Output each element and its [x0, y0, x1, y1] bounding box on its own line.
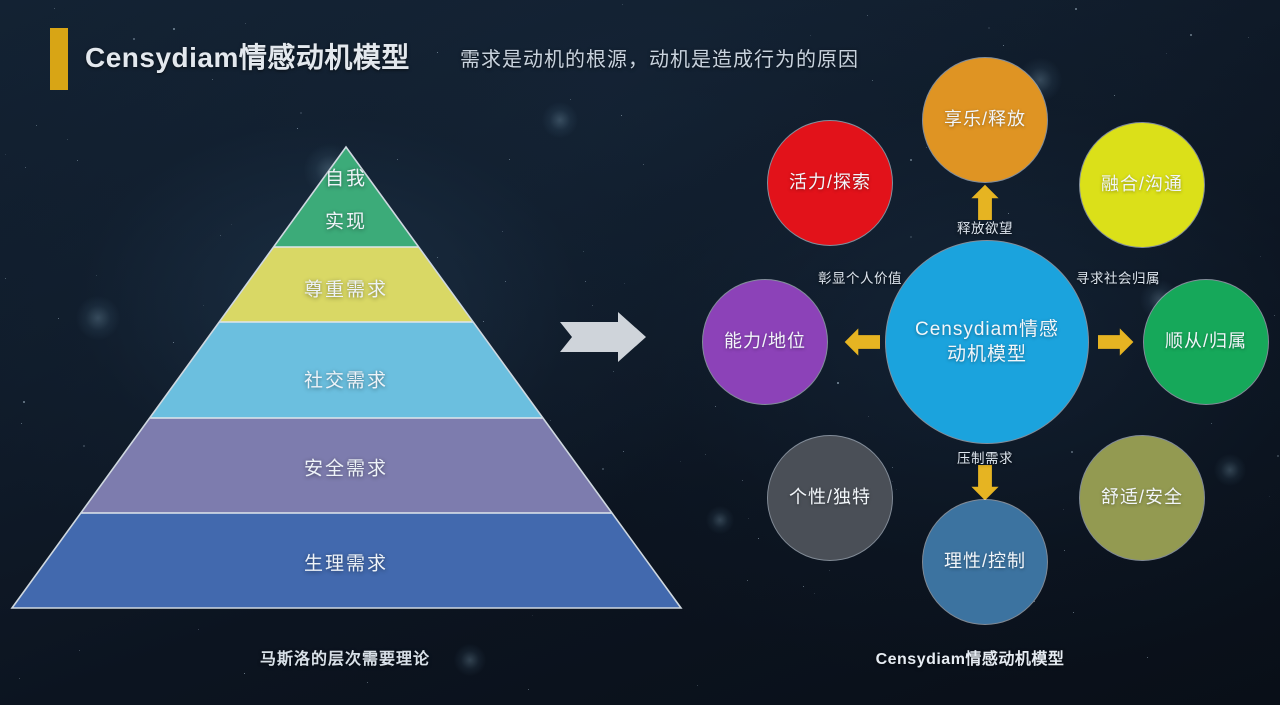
arrow-show-personal-value-icon — [845, 328, 880, 355]
arrow-seek-social-belonging-icon — [1098, 328, 1133, 355]
bubble-competence[interactable]: 能力/地位 — [703, 280, 827, 404]
censydiam-bubble-map: Censydiam情感 动机模型活力/探索享乐/释放融合/沟通能力/地位顺从/归… — [660, 0, 1280, 705]
pyramid-level-3[interactable] — [0, 418, 700, 513]
bubble-map-caption: Censydiam情感动机模型 — [660, 645, 1280, 669]
pyramid-caption: 马斯洛的层次需要理论 — [0, 645, 690, 669]
bubble-center-censydiam[interactable]: Censydiam情感 动机模型 — [886, 241, 1088, 443]
arrow-release-desire-icon — [971, 185, 998, 220]
bubble-label-belonging: 顺从/归属 — [1165, 330, 1247, 354]
pyramid-level-4[interactable] — [0, 513, 700, 608]
connector-label-seek-social-belonging: 寻求社会归属 — [1076, 267, 1160, 287]
slide-canvas: Censydiam情感动机模型 需求是动机的根源，动机是造成行为的原因 自我 实… — [0, 0, 1280, 705]
pyramid-level-0[interactable] — [0, 147, 700, 247]
arrow-suppress-need-icon — [971, 465, 998, 500]
bubble-uniqueness[interactable]: 个性/独特 — [768, 436, 892, 560]
bubble-center-label: Censydiam情感 动机模型 — [915, 317, 1059, 367]
bubble-label-vitality: 活力/探索 — [789, 171, 871, 195]
bubble-control[interactable]: 理性/控制 — [923, 500, 1047, 624]
right-arrow-icon — [560, 310, 650, 369]
connector-label-show-personal-value: 彰显个人价值 — [818, 267, 902, 287]
bubble-label-control: 理性/控制 — [944, 550, 1026, 574]
bubble-fusion[interactable]: 融合/沟通 — [1080, 123, 1204, 247]
bubble-belonging[interactable]: 顺从/归属 — [1144, 280, 1268, 404]
bubble-label-competence: 能力/地位 — [724, 330, 806, 354]
connector-label-suppress-need: 压制需求 — [957, 447, 1013, 467]
bubble-label-pleasure: 享乐/释放 — [944, 108, 1026, 132]
bubble-pleasure[interactable]: 享乐/释放 — [923, 58, 1047, 182]
bubble-label-fusion: 融合/沟通 — [1101, 173, 1183, 197]
connector-label-release-desire: 释放欲望 — [957, 217, 1013, 237]
bubble-vitality[interactable]: 活力/探索 — [768, 121, 892, 245]
bubble-comfort[interactable]: 舒适/安全 — [1080, 436, 1204, 560]
bubble-label-comfort: 舒适/安全 — [1101, 486, 1183, 510]
bubble-label-uniqueness: 个性/独特 — [789, 486, 871, 510]
